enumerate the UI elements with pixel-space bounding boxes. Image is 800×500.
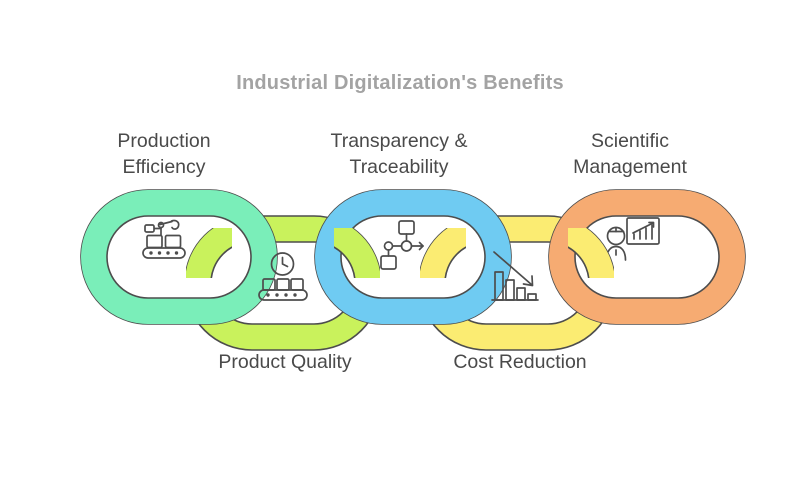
infographic-root: Industrial Digitalization's Benefits: [0, 0, 800, 500]
link-label-production-efficiency: Production Efficiency: [64, 129, 264, 180]
link-label-scientific-management: Scientific Management: [530, 129, 730, 180]
link-label-product-quality: Product Quality: [185, 350, 385, 376]
link-label-transparency-traceability: Transparency & Traceability: [299, 129, 499, 180]
chain-diagram: [0, 0, 800, 500]
link-label-cost-reduction: Cost Reduction: [420, 350, 620, 376]
